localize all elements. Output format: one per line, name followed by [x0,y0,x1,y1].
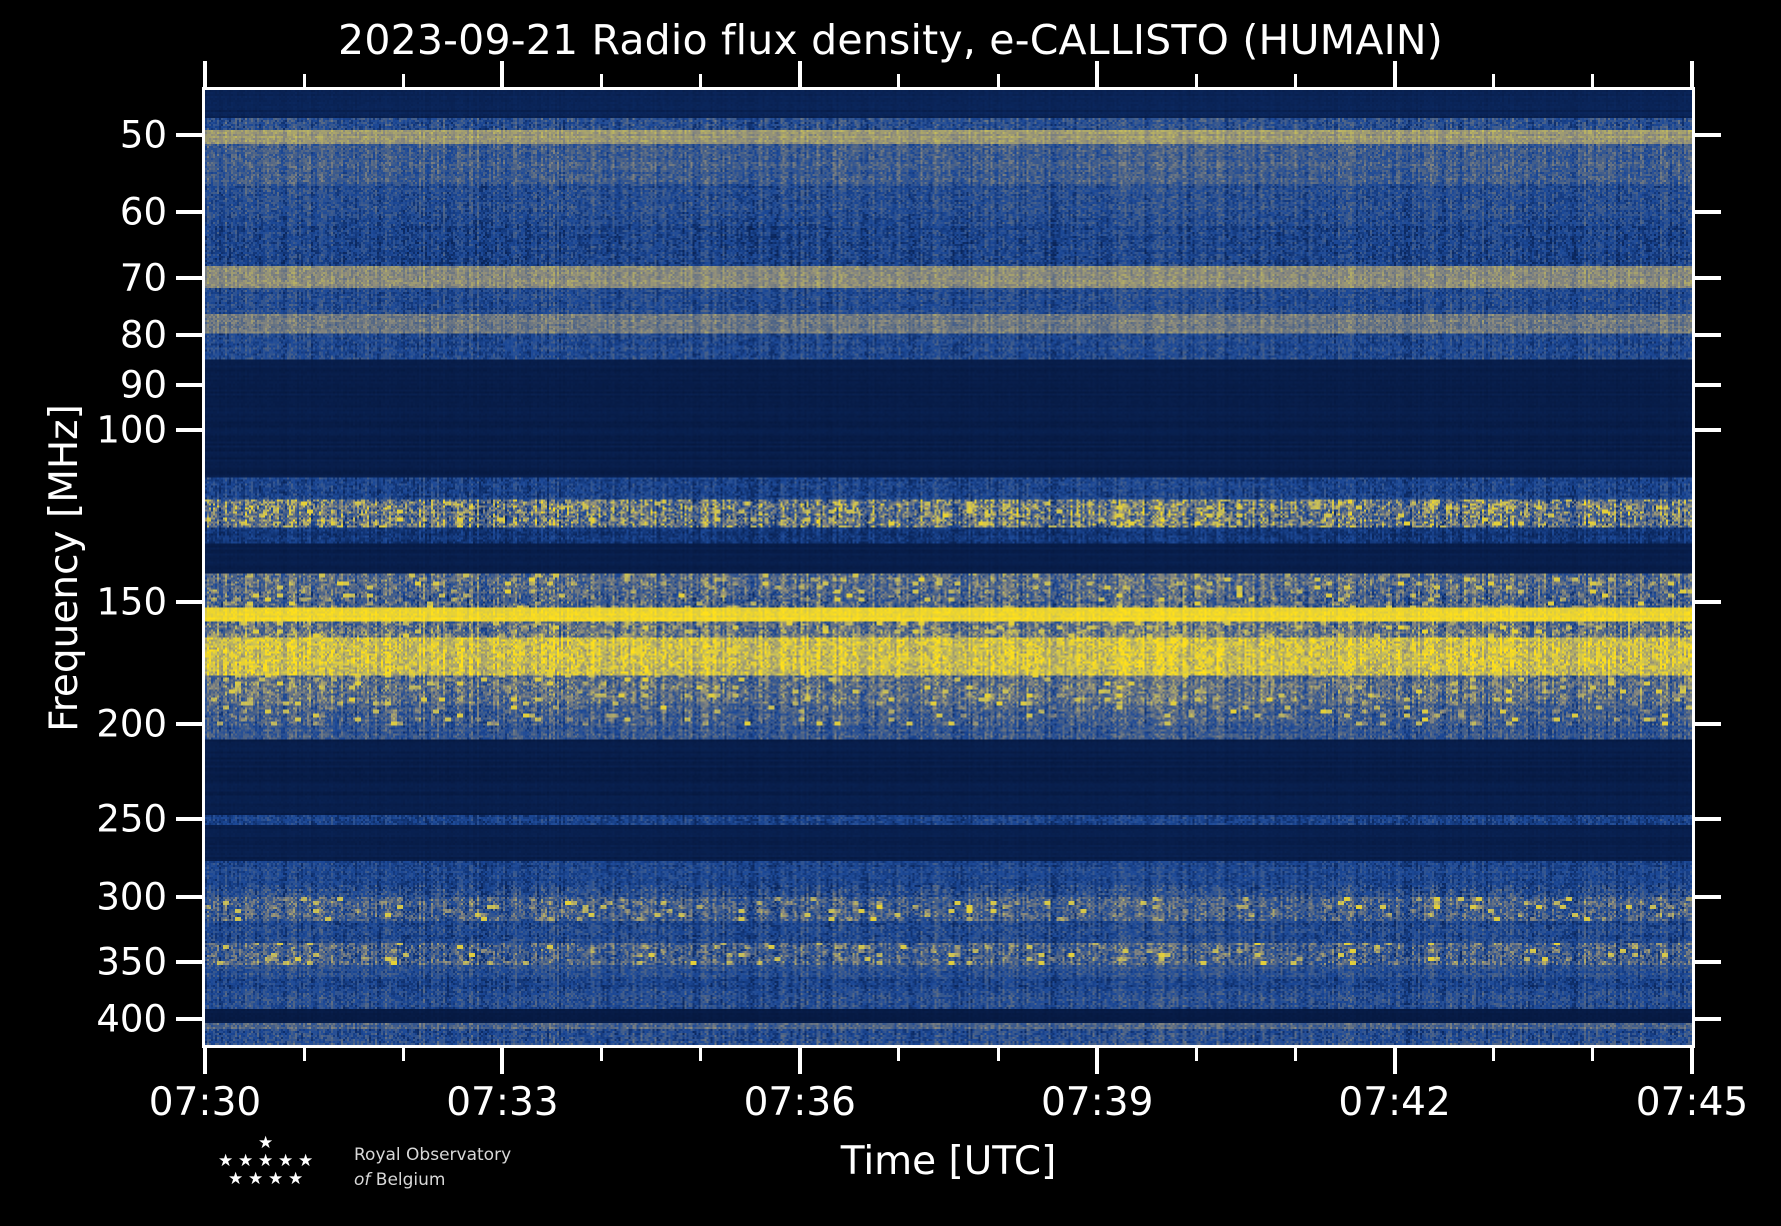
x-tick-major-top-3 [1095,61,1099,90]
y-tick-major-70 [176,276,205,280]
x-tick-minor-1 [402,1045,405,1061]
y-tick-major-right-200 [1692,722,1721,726]
spectrogram-figure: 2023-09-21 Radio flux density, e-CALLIST… [0,0,1781,1226]
y-tick-label-250: 250 [96,801,167,838]
x-tick-label-3: 07:39 [1041,1080,1153,1125]
x-tick-minor-top-4 [897,74,900,90]
y-axis-title: Frequency [MHz] [42,218,87,918]
star-icon-9: ★ [288,1171,303,1188]
x-tick-minor-top-1 [402,74,405,90]
x-tick-minor-top-8 [1492,74,1495,90]
y-tick-major-right-80 [1692,333,1721,337]
y-tick-major-right-250 [1692,817,1721,821]
star-icon-2: ★ [238,1153,253,1170]
y-tick-label-70: 70 [120,259,167,296]
x-tick-label-2: 07:36 [744,1080,856,1125]
y-tick-label-100: 100 [96,411,167,448]
x-tick-minor-top-7 [1294,74,1297,90]
y-tick-major-80 [176,333,205,337]
y-tick-label-150: 150 [96,584,167,621]
x-tick-minor-top-0 [303,74,306,90]
y-tick-label-60: 60 [120,194,167,231]
y-tick-label-90: 90 [120,366,167,403]
spectrogram-image [205,90,1692,1045]
x-tick-major-top-1 [500,61,504,90]
x-tick-major-top-5 [1690,61,1694,90]
y-tick-major-150 [176,600,205,604]
logo-belgium: Belgium [376,1170,446,1190]
y-tick-major-right-70 [1692,276,1721,280]
y-tick-major-right-90 [1692,383,1721,387]
x-tick-major-5 [1690,1045,1694,1074]
x-tick-minor-top-2 [600,74,603,90]
star-icon-5: ★ [298,1153,313,1170]
x-tick-major-top-2 [798,61,802,90]
x-tick-minor-top-3 [699,74,702,90]
y-tick-major-300 [176,895,205,899]
x-tick-label-4: 07:42 [1338,1080,1450,1125]
chart-title: 2023-09-21 Radio flux density, e-CALLIST… [0,16,1781,64]
y-tick-major-90 [176,383,205,387]
y-tick-major-right-100 [1692,428,1721,432]
y-tick-label-350: 350 [96,944,167,981]
x-tick-minor-7 [1294,1045,1297,1061]
y-tick-label-200: 200 [96,706,167,743]
x-tick-minor-6 [1195,1045,1198,1061]
x-tick-minor-2 [600,1045,603,1061]
x-tick-label-0: 07:30 [149,1080,261,1125]
x-tick-minor-8 [1492,1045,1495,1061]
x-tick-label-1: 07:33 [446,1080,558,1125]
y-tick-major-right-300 [1692,895,1721,899]
logo-text: Royal Observatory of Belgium [354,1143,614,1192]
x-tick-major-top-4 [1393,61,1397,90]
y-tick-label-80: 80 [120,316,167,353]
y-tick-label-50: 50 [120,116,167,153]
x-tick-major-top-0 [203,61,207,90]
x-tick-major-1 [500,1045,504,1074]
logo-line-2: of Belgium [354,1168,614,1193]
x-tick-minor-0 [303,1045,306,1061]
y-tick-major-400 [176,1017,205,1021]
y-tick-major-right-150 [1692,600,1721,604]
y-tick-major-50 [176,133,205,137]
y-tick-major-100 [176,428,205,432]
y-tick-major-right-60 [1692,210,1721,214]
star-icon-0: ★ [258,1135,273,1152]
logo-of: of [354,1170,370,1190]
x-tick-minor-top-5 [997,74,1000,90]
star-icon-8: ★ [268,1171,283,1188]
royal-observatory-logo: ★★★★★★★★★★ Royal Observatory of Belgium [196,1133,616,1213]
y-tick-major-right-400 [1692,1017,1721,1021]
spectrogram-plot-area [205,90,1692,1045]
y-tick-major-60 [176,210,205,214]
star-icon-6: ★ [228,1171,243,1188]
stars-icon: ★★★★★★★★★★ [196,1133,346,1203]
x-tick-minor-top-9 [1591,74,1594,90]
x-tick-major-3 [1095,1045,1099,1074]
x-tick-minor-9 [1591,1045,1594,1061]
x-tick-minor-3 [699,1045,702,1061]
x-tick-minor-top-6 [1195,74,1198,90]
x-tick-minor-4 [897,1045,900,1061]
y-tick-major-200 [176,722,205,726]
y-tick-major-350 [176,960,205,964]
star-icon-1: ★ [218,1153,233,1170]
y-tick-major-right-350 [1692,960,1721,964]
y-tick-label-300: 300 [96,878,167,915]
logo-line-1: Royal Observatory [354,1143,614,1168]
x-tick-label-5: 07:45 [1636,1080,1748,1125]
x-tick-minor-5 [997,1045,1000,1061]
y-tick-major-250 [176,817,205,821]
x-tick-major-4 [1393,1045,1397,1074]
x-tick-major-2 [798,1045,802,1074]
y-tick-major-right-50 [1692,133,1721,137]
star-icon-7: ★ [248,1171,263,1188]
y-tick-label-400: 400 [96,1001,167,1038]
star-icon-3: ★ [258,1153,273,1170]
x-tick-major-0 [203,1045,207,1074]
star-icon-4: ★ [278,1153,293,1170]
